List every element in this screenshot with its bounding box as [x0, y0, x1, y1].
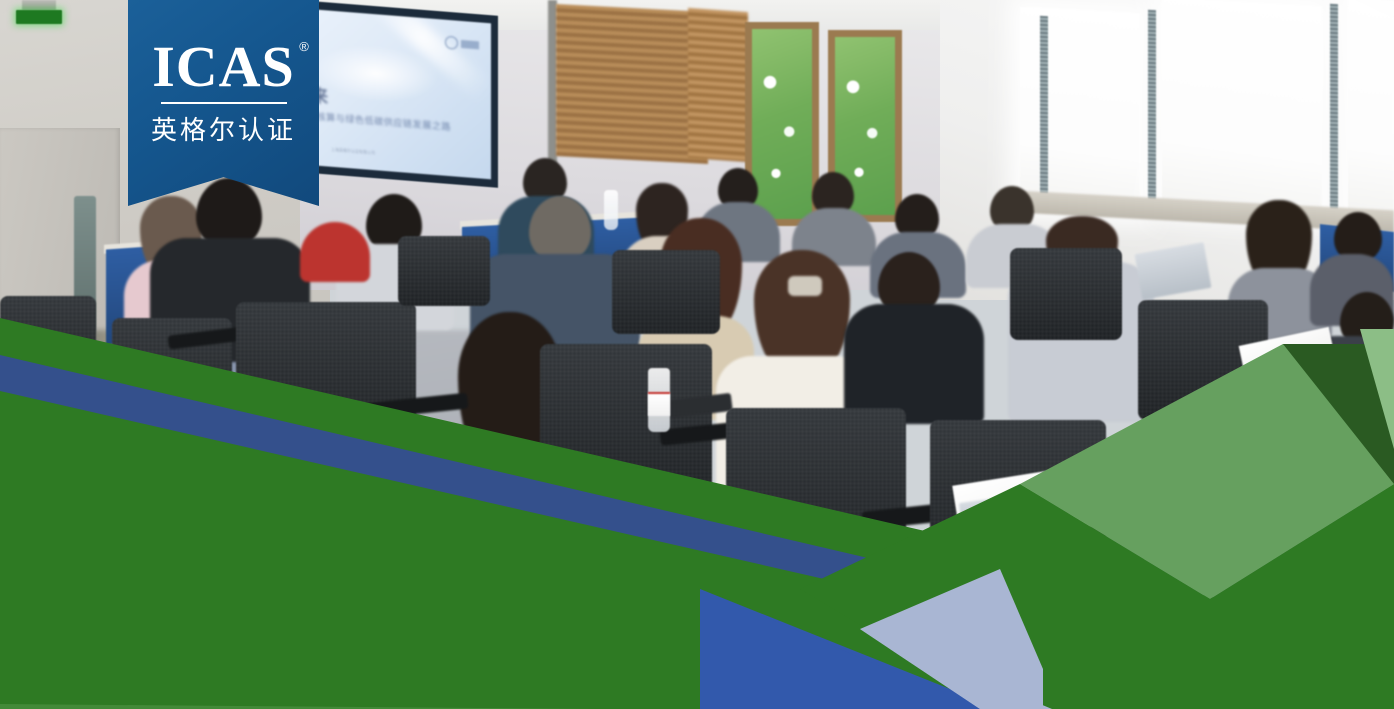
icas-logo-inner: ICAS ® 英格尔认证 — [128, 38, 319, 147]
water-bottle — [604, 190, 618, 230]
bottom-right-pale-blue-panel-shape — [0, 289, 1394, 709]
window-pane-b — [1162, 0, 1322, 216]
projection-screen: 来 碳核算与绿色低碳供应链发展之路 上海英格尔认证有限公司 — [305, 9, 491, 180]
icas-logo-banner: ICAS ® 英格尔认证 — [128, 0, 319, 206]
window-post-c — [1330, 4, 1338, 216]
window-pane-a — [1020, 7, 1140, 214]
icas-wordmark: ICAS ® — [152, 38, 295, 101]
window-blinds-left — [556, 4, 708, 164]
registered-trademark-icon: ® — [299, 40, 310, 53]
exit-sign-bracket — [22, 0, 56, 10]
screen-light-streak — [362, 9, 491, 103]
icas-chinese-name: 英格尔认证 — [128, 110, 319, 147]
window-post-b — [1148, 10, 1156, 210]
screen-corner-logo-icon — [445, 36, 479, 52]
screen-footnote-text: 上海英格尔认证有限公司 — [331, 147, 375, 156]
exit-sign-icon — [16, 10, 62, 24]
window-pane-c — [1348, 0, 1394, 216]
screen-subtitle-text: 碳核算与绿色低碳供应链发展之路 — [307, 109, 451, 133]
window-blinds-right — [688, 8, 748, 162]
window-post-a — [1040, 16, 1048, 206]
icas-seminar-banner: 来 碳核算与绿色低碳供应链发展之路 上海英格尔认证有限公司 — [0, 0, 1394, 709]
decorative-geometry — [0, 289, 1394, 709]
attendee-head — [529, 196, 591, 262]
logo-underline-rule — [161, 102, 287, 104]
icas-wordmark-text: ICAS — [152, 34, 295, 99]
